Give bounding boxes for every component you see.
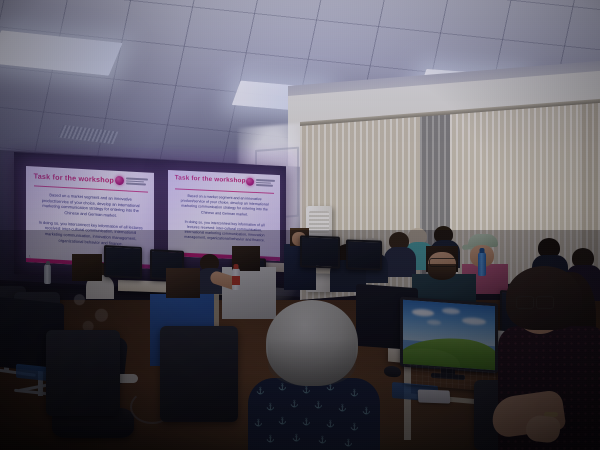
bottle-cap (46, 261, 50, 265)
person-grey-hair-anchor-shirt: ⚓ ⚓ ⚓ ⚓ ⚓ ⚓ ⚓ ⚓ ⚓ ⚓ ⚓ ⚓ ⚓ ⚓ ⚓ ⚓ ⚓ ⚓ ⚓ (250, 300, 378, 450)
logo-wordmark (126, 177, 148, 185)
monitor-screen (300, 235, 340, 268)
university-logo-icon (115, 176, 124, 185)
slide-title: Task for the workshop (175, 175, 246, 185)
glasses-icon (536, 296, 554, 309)
chair-back (46, 330, 120, 416)
slide-paragraph-1: Based on a market segment and an innovat… (38, 192, 144, 220)
monitor-screen (400, 297, 498, 374)
monitor-back-center (300, 235, 340, 268)
hair-shading (268, 338, 356, 386)
chair-back (160, 326, 238, 422)
slide-paragraph-2: In doing so, you interconnect key inform… (178, 219, 271, 244)
photo-scene: Task for the workshop Based on a market … (0, 0, 600, 450)
slide-paragraph-2: In doing so, you interconnect key inform… (38, 219, 144, 247)
hair (166, 268, 200, 298)
smartphone (418, 389, 451, 403)
bottle-label (232, 276, 240, 285)
logo-wordmark (256, 179, 275, 186)
university-logo-icon (246, 178, 254, 186)
bottle-cap (480, 248, 485, 253)
slide-title: Task for the workshop (34, 171, 114, 184)
slide-header: Task for the workshop (34, 171, 148, 186)
red-label-bottle (232, 268, 240, 290)
blue-water-bottle (478, 252, 486, 276)
slide-logo (115, 176, 148, 187)
anchor-pattern: ⚓ ⚓ ⚓ ⚓ ⚓ ⚓ ⚓ ⚓ ⚓ ⚓ ⚓ ⚓ ⚓ ⚓ ⚓ ⚓ ⚓ ⚓ ⚓ (248, 378, 380, 450)
anchor-print-shirt: ⚓ ⚓ ⚓ ⚓ ⚓ ⚓ ⚓ ⚓ ⚓ ⚓ ⚓ ⚓ ⚓ ⚓ ⚓ ⚓ ⚓ ⚓ ⚓ (248, 378, 380, 450)
slide-body: Based on a market segment and an innovat… (38, 192, 144, 253)
glasses-icon (429, 258, 457, 267)
slide-body: Based on a market segment and an innovat… (178, 194, 271, 249)
hand (525, 414, 562, 443)
hair (72, 254, 102, 281)
silver-bottle (44, 264, 51, 284)
bottle-cap (234, 264, 239, 269)
slide-logo (246, 178, 275, 187)
monitor-screen (346, 239, 382, 270)
slide-paragraph-1: Based on a market segment and an innovat… (178, 194, 271, 219)
slide-header: Task for the workshop (175, 175, 275, 188)
person-seated-back-row (384, 232, 414, 274)
person-woman-glasses (496, 266, 600, 450)
computer-mouse (384, 365, 401, 377)
glasses-icon (516, 296, 534, 309)
monitor-back-right (346, 239, 382, 270)
bliss-wallpaper-monitor (400, 297, 498, 374)
slide-divider (175, 188, 275, 194)
